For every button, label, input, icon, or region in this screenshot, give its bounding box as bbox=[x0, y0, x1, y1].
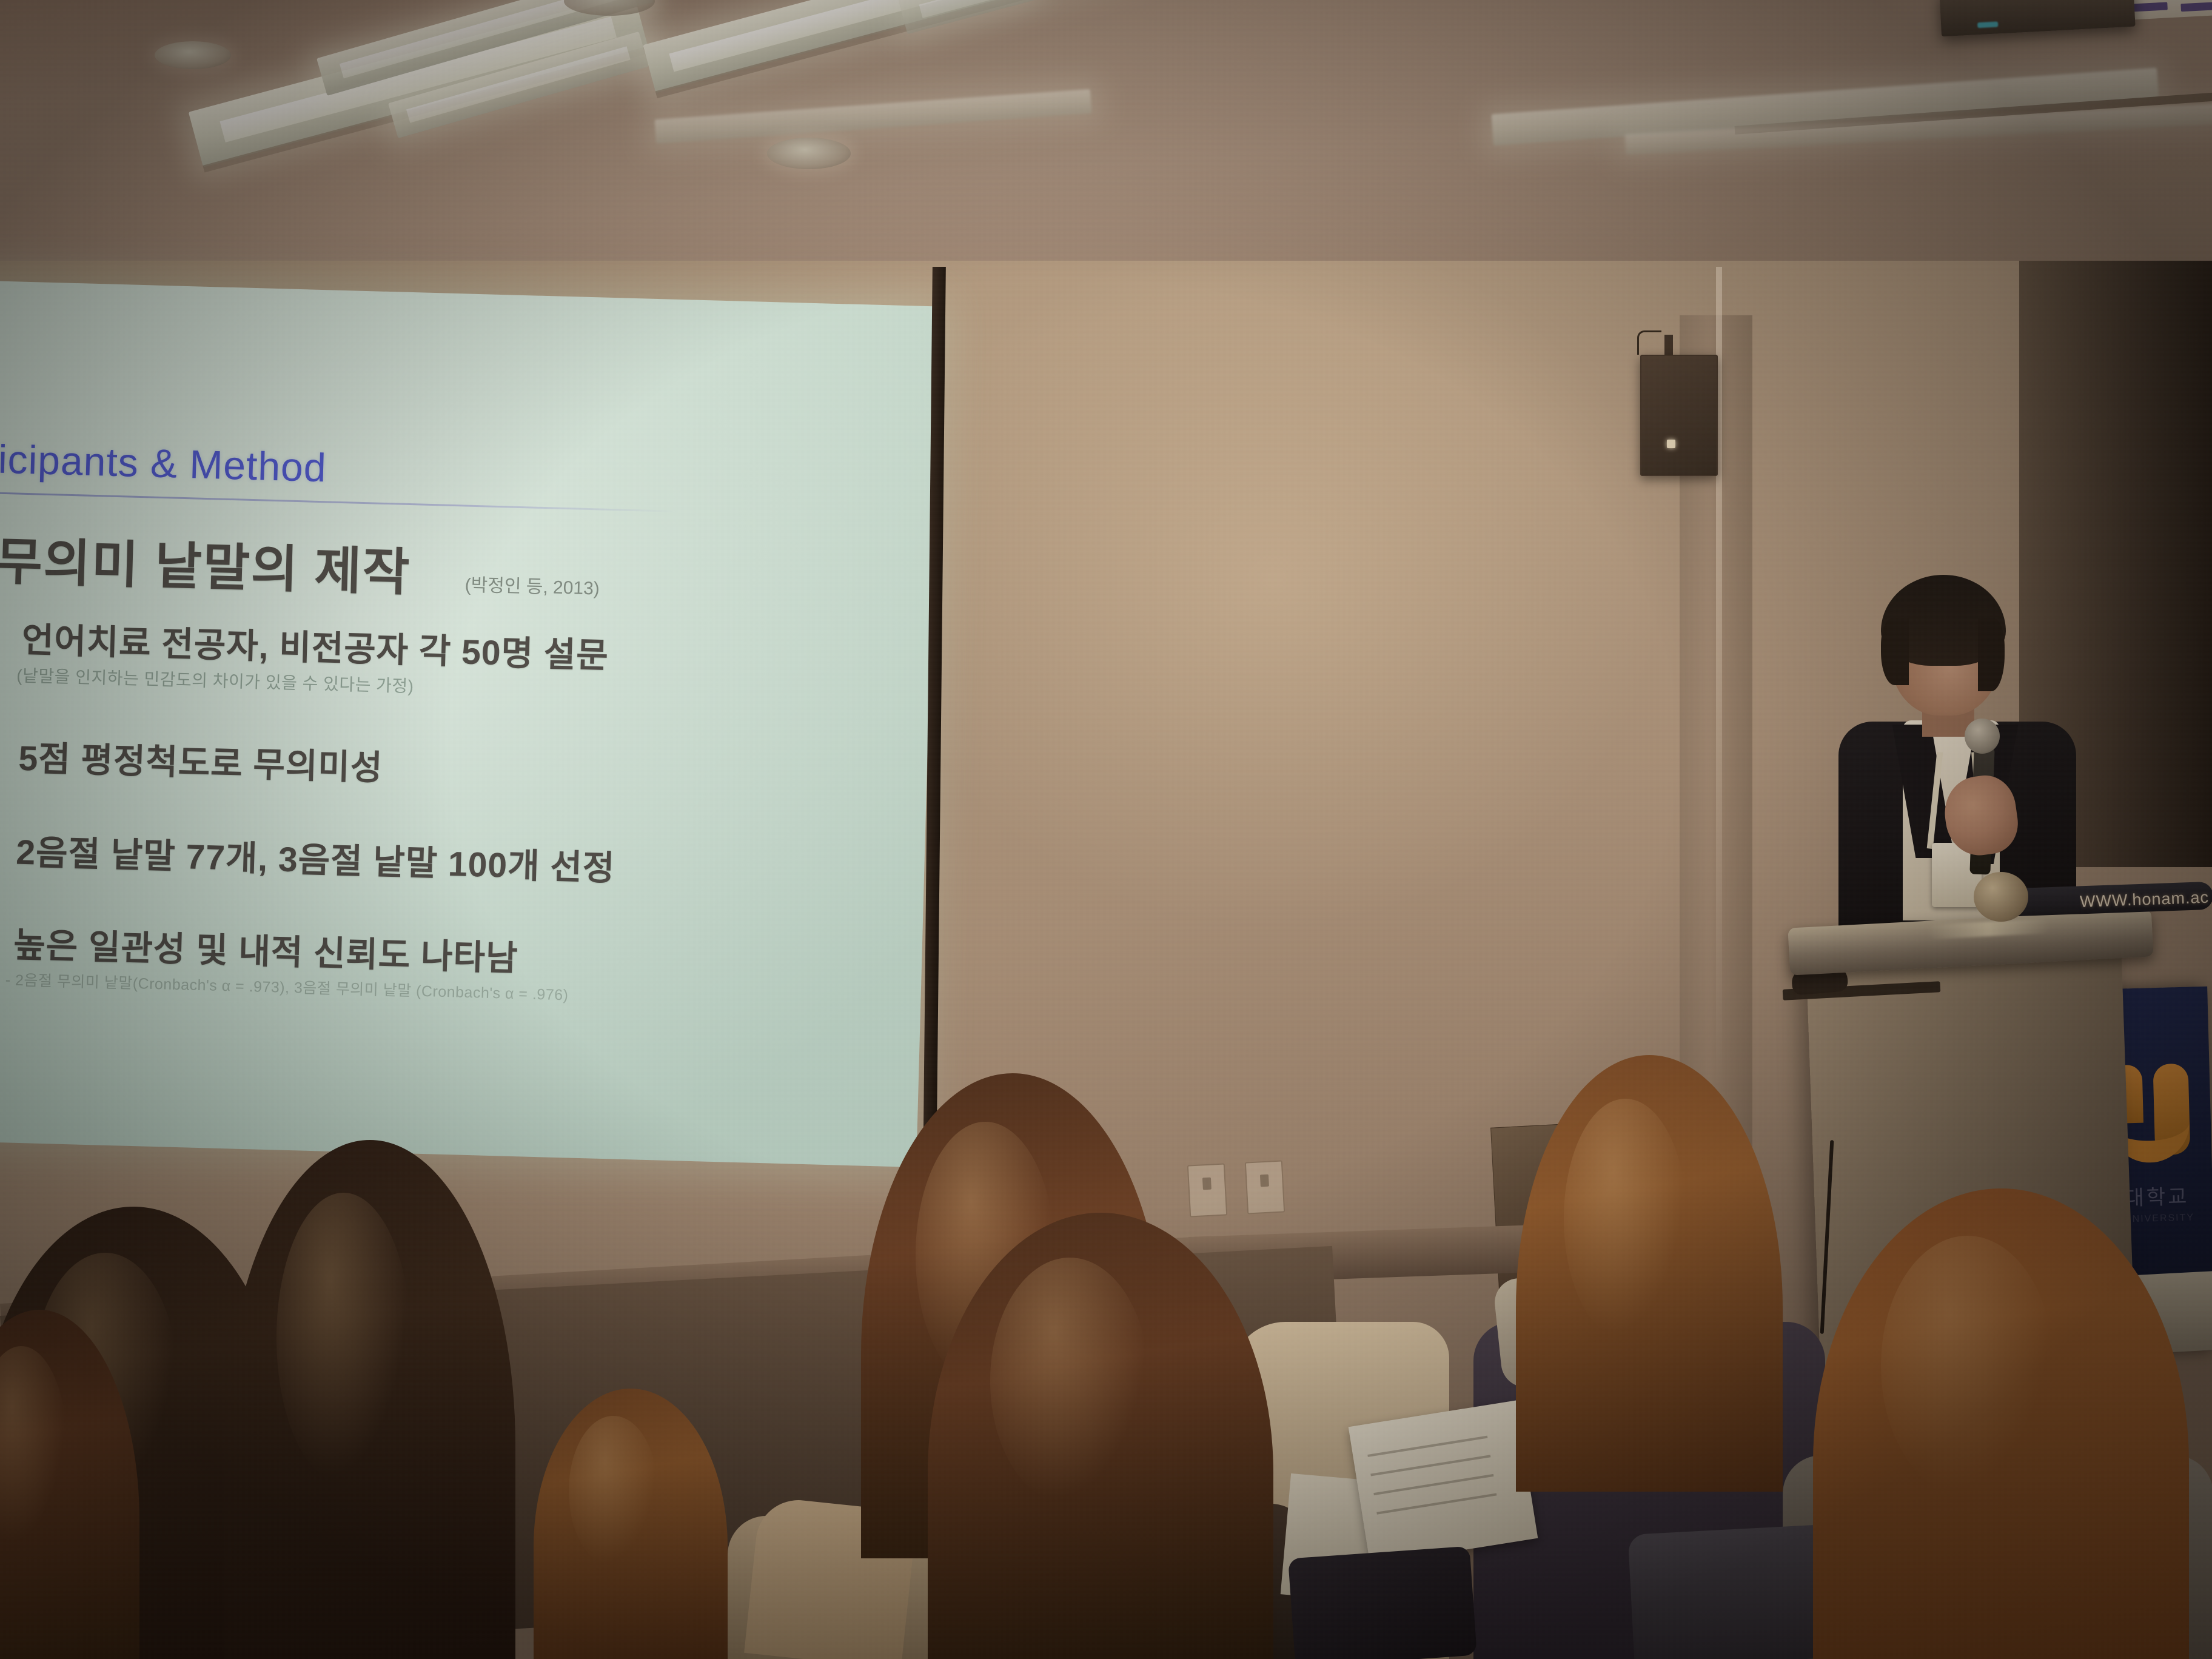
projector-led-icon bbox=[1977, 21, 1998, 28]
slide-section-header: Participants & Method bbox=[0, 434, 711, 501]
slide-bullet: 5점 평정척도로 무의미성 bbox=[18, 731, 384, 790]
microphone-head-icon bbox=[1965, 719, 2000, 754]
wall-outlet[interactable] bbox=[1187, 1163, 1227, 1217]
slide-title: 무의미 낱말의 제작 bbox=[0, 521, 412, 605]
wall-outlet[interactable] bbox=[1245, 1160, 1285, 1214]
podium-microphone-head-icon bbox=[1974, 872, 2028, 922]
presentation-room-photo: Participants & Method 무의미 낱말의 제작 (박정인 등,… bbox=[0, 0, 2212, 1659]
presentation-slide: Participants & Method 무의미 낱말의 제작 (박정인 등,… bbox=[0, 280, 939, 1167]
recessed-downlight-icon bbox=[767, 138, 851, 169]
speaker-cable bbox=[1637, 330, 1661, 355]
slide-bullet: 2음절 낱말 77개, 3음절 낱말 100개 선정 bbox=[16, 825, 616, 891]
presenter-hair-side bbox=[1881, 618, 1909, 685]
handbag bbox=[1288, 1546, 1477, 1659]
ceiling-light-wash bbox=[0, 0, 2212, 285]
speaker-led-icon bbox=[1667, 440, 1675, 448]
recessed-downlight-icon bbox=[155, 41, 231, 69]
wall-speaker bbox=[1640, 355, 1718, 476]
projection-screen: Participants & Method 무의미 낱말의 제작 (박정인 등,… bbox=[0, 280, 939, 1167]
presenter-hair-side bbox=[1978, 618, 2005, 691]
slide-citation: (박정인 등, 2013) bbox=[464, 570, 600, 600]
open-booklet bbox=[1349, 1401, 1538, 1565]
